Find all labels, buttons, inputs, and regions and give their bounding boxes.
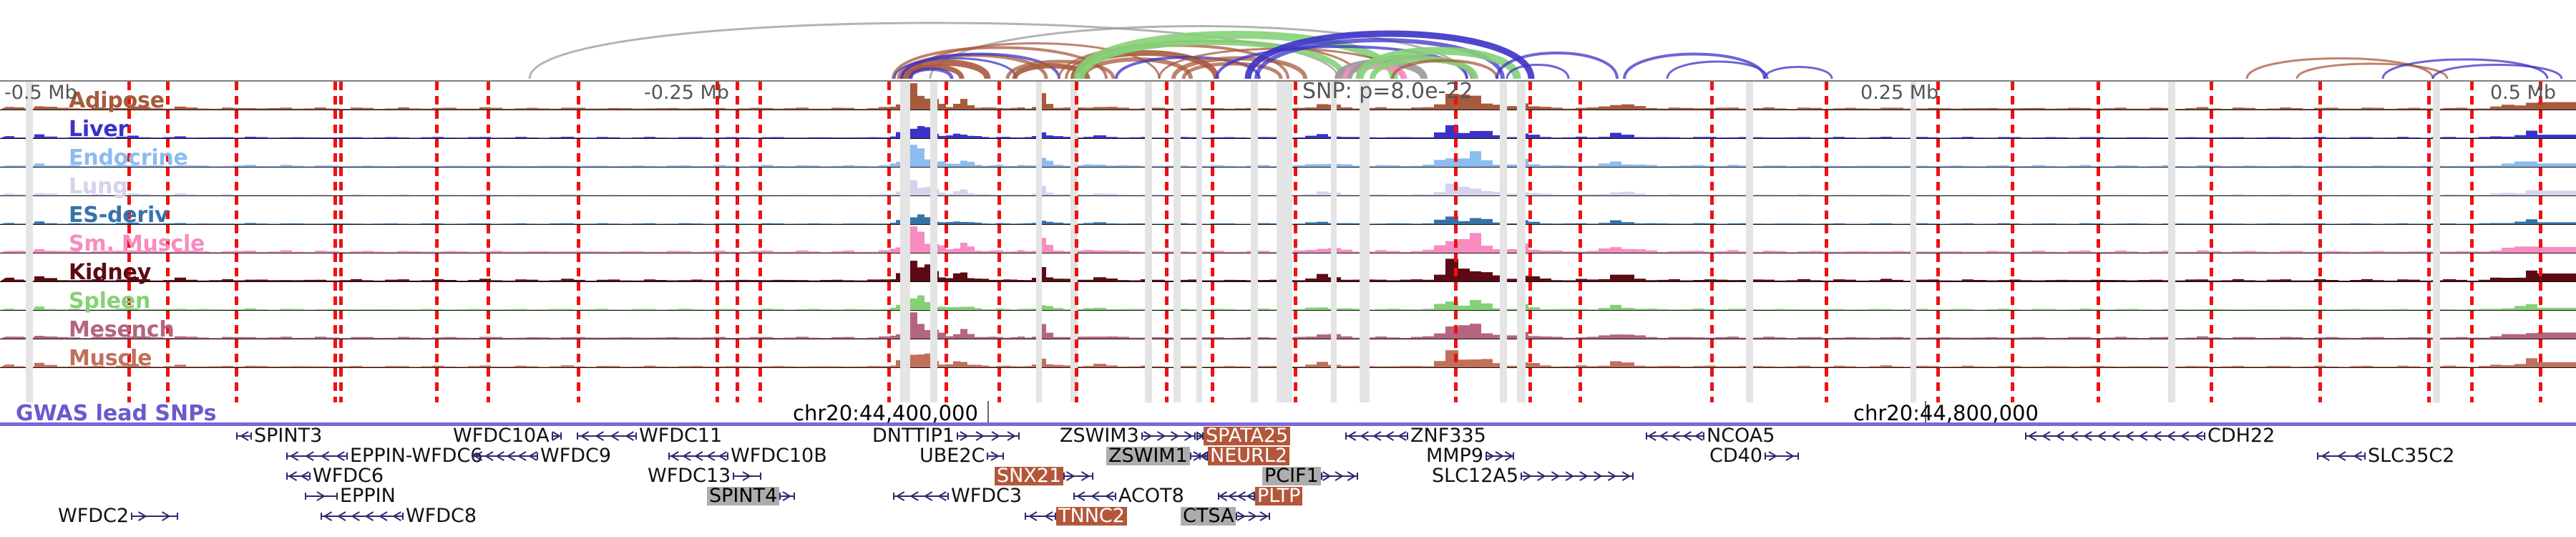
gene-label: ZNF335: [1408, 427, 1488, 445]
signal-track-stack: AdiposeLiverEndocrineLungES-derivSm. Mus…: [0, 80, 2576, 402]
gene-label: SNX21: [995, 467, 1063, 485]
signal-track-es-deriv[interactable]: ES-deriv: [0, 196, 2576, 225]
signal-area: [0, 145, 2576, 167]
gene-strand-track: [1646, 429, 1704, 443]
gene-strand-track: [2317, 449, 2366, 463]
signal-histogram: [0, 81, 2576, 110]
signal-histogram: [0, 138, 2576, 167]
track-label-endocrine: Endocrine: [69, 147, 188, 169]
gene-annotation[interactable]: ZSWIM3: [1058, 426, 1196, 445]
gene-strand-track: [1765, 449, 1799, 463]
gene-annotation-panel: WFDC2SPINT3EPPIN-WFDC6WFDC6EPPINWFDC8WFD…: [0, 426, 2576, 537]
loop-arc: [2297, 64, 2447, 79]
genome-browser-view: AdiposeLiverEndocrineLungES-derivSm. Mus…: [0, 0, 2576, 537]
gene-annotation[interactable]: PLTP: [1218, 486, 1302, 505]
gene-label: WFDC2: [56, 507, 131, 526]
gene-strand-track: [733, 469, 761, 483]
gene-annotation[interactable]: WFDC10A: [451, 426, 562, 445]
gene-label: EPPIN-WFDC6: [348, 447, 484, 465]
loop-arc: [2247, 59, 2433, 79]
gene-strand-track: [1141, 429, 1196, 443]
gene-label: TNNC2: [1056, 507, 1127, 526]
gene-strand-track: [1485, 449, 1514, 463]
gene-annotation[interactable]: NEURL2: [1199, 446, 1289, 465]
gene-strand-track: [1196, 429, 1204, 443]
gene-strand-track: [2025, 429, 2205, 443]
loop-arc: [1765, 67, 1832, 79]
gene-label: SPINT4: [707, 487, 779, 505]
gene-strand-track: [893, 489, 949, 503]
loop-arc: [2383, 59, 2547, 79]
gene-strand-track: [1345, 429, 1408, 443]
gene-strand-track: [321, 509, 404, 523]
gene-strand-track: [1025, 509, 1056, 523]
signal-histogram: [0, 167, 2576, 195]
gene-annotation[interactable]: CDH22: [2025, 426, 2277, 445]
gene-annotation[interactable]: SNX21: [995, 466, 1093, 485]
gene-annotation[interactable]: WFDC13: [645, 466, 761, 485]
signal-histogram: [0, 281, 2576, 310]
gene-annotation[interactable]: SPINT4: [707, 486, 795, 505]
gene-strand-track: [1073, 489, 1116, 503]
gene-label: SPINT3: [252, 427, 324, 445]
gene-strand-track: [286, 469, 311, 483]
gene-annotation[interactable]: ZNF335: [1345, 426, 1488, 445]
gene-strand-track: [286, 449, 348, 463]
signal-track-sm-muscle[interactable]: Sm. Muscle: [0, 225, 2576, 253]
gene-label: WFDC6: [311, 467, 386, 485]
gene-label: PCIF1: [1262, 467, 1321, 485]
gene-annotation[interactable]: WFDC8: [321, 506, 479, 525]
gene-label: ZSWIM3: [1058, 427, 1141, 445]
gene-strand-track: [305, 489, 338, 503]
gene-label: WFDC8: [404, 507, 479, 526]
coordinate-label-right: chr20:44,800,000: [1853, 401, 2039, 425]
signal-track-lung[interactable]: Lung: [0, 168, 2576, 196]
gene-label: EPPIN: [338, 487, 398, 505]
gene-annotation[interactable]: EPPIN-WFDC6: [286, 446, 484, 465]
signal-area: [0, 83, 2576, 110]
gene-label: DNTTIP1: [870, 427, 957, 445]
gene-annotation[interactable]: ACOT8: [1073, 486, 1186, 505]
signal-area: [0, 258, 2576, 281]
gene-annotation[interactable]: NCOA5: [1646, 426, 1777, 445]
track-label-mesench: Mesench: [69, 319, 175, 341]
chromatin-loop-arc-panel: [0, 0, 2576, 80]
gene-label: UBE2C: [917, 447, 987, 465]
gene-label: ACOT8: [1116, 487, 1186, 505]
signal-track-muscle[interactable]: Muscle: [0, 339, 2576, 368]
gene-annotation[interactable]: CTSA: [1181, 506, 1270, 525]
snp-pvalue-annotation: SNP: p=8.0e-22: [1302, 79, 1473, 104]
signal-track-spleen[interactable]: Spleen: [0, 282, 2576, 311]
gene-label: CD40: [1707, 447, 1765, 465]
coordinate-label-left: chr20:44,400,000: [793, 401, 978, 425]
signal-track-adipose[interactable]: Adipose: [0, 82, 2576, 110]
gene-label: WFDC11: [637, 427, 724, 445]
signal-histogram: [0, 224, 2576, 253]
gene-strand-track: [552, 429, 562, 443]
gene-annotation[interactable]: ZSWIM1: [1106, 446, 1206, 465]
gene-strand-track: [577, 429, 637, 443]
signal-area: [0, 180, 2576, 195]
gene-strand-track: [987, 449, 1004, 463]
gene-label: SLC12A5: [1430, 467, 1521, 485]
gene-label: PLTP: [1255, 487, 1302, 505]
gwas-lead-snp-label: GWAS lead SNPs: [16, 401, 216, 426]
gene-strand-track: [1218, 489, 1255, 503]
gene-annotation[interactable]: SLC12A5: [1430, 466, 1634, 485]
gene-annotation[interactable]: DNTTIP1: [870, 426, 1020, 445]
gene-annotation[interactable]: CD40: [1707, 446, 1799, 465]
gene-annotation[interactable]: SLC35C2: [2317, 446, 2457, 465]
signal-histogram: [0, 339, 2576, 367]
gene-annotation[interactable]: SPINT3: [236, 426, 324, 445]
signal-area: [0, 125, 2576, 138]
gene-annotation[interactable]: TNNC2: [1025, 506, 1127, 525]
gene-annotation[interactable]: MMP9: [1424, 446, 1514, 465]
signal-area: [0, 214, 2576, 224]
gene-annotation[interactable]: SPATA25: [1196, 426, 1290, 445]
gene-label: WFDC3: [949, 487, 1024, 505]
axis-label-quarter-right: 0.25 Mb: [1860, 82, 1938, 104]
signal-histogram: [0, 110, 2576, 138]
signal-track-kidney[interactable]: Kidney: [0, 253, 2576, 282]
gene-label: NCOA5: [1704, 427, 1777, 445]
gene-strand-track: [1063, 469, 1093, 483]
signal-track-liver[interactable]: Liver: [0, 110, 2576, 139]
gene-label: WFDC13: [645, 467, 733, 485]
gene-label: ZSWIM1: [1106, 447, 1190, 465]
loop-arc: [1624, 54, 1765, 79]
gene-label: CTSA: [1181, 507, 1236, 526]
gene-label: WFDC10B: [728, 447, 829, 465]
gene-strand-track: [472, 449, 538, 463]
gene-label: WFDC10A: [451, 427, 552, 445]
gene-label: SPATA25: [1204, 427, 1290, 445]
gene-annotation[interactable]: WFDC9: [472, 446, 613, 465]
signal-histogram: [0, 195, 2576, 224]
axis-label-quarter-left: -0.25 Mb: [644, 82, 729, 104]
gene-annotation[interactable]: WFDC6: [286, 466, 386, 485]
track-label-kidney: Kidney: [69, 262, 151, 284]
track-label-es-deriv: ES-deriv: [69, 205, 168, 226]
coord-tick-left: [987, 401, 989, 422]
gene-annotation[interactable]: EPPIN: [305, 486, 398, 505]
gene-label: SLC35C2: [2366, 447, 2457, 465]
gene-label: NEURL2: [1208, 447, 1289, 465]
loop-arc: [1184, 64, 1281, 79]
gene-annotation[interactable]: WFDC10B: [668, 446, 829, 465]
gene-strand-track: [1199, 449, 1208, 463]
track-label-adipose: Adipose: [69, 90, 165, 112]
gene-strand-track: [131, 509, 178, 523]
gene-annotation[interactable]: WFDC2: [56, 506, 178, 525]
gene-strand-track: [1321, 469, 1358, 483]
signal-area: [0, 295, 2576, 310]
signal-histogram: [0, 310, 2576, 339]
gene-strand-track: [779, 489, 795, 503]
arc-svg: [0, 0, 2576, 80]
signal-track-endocrine[interactable]: Endocrine: [0, 139, 2576, 168]
axis-label-left: -0.5 Mb: [4, 82, 77, 104]
gene-strand-track: [236, 429, 252, 443]
gene-label: CDH22: [2205, 427, 2277, 445]
axis-label-right: 0.5 Mb: [2490, 82, 2556, 104]
track-label-liver: Liver: [69, 119, 128, 140]
signal-area: [0, 312, 2576, 339]
signal-area: [0, 350, 2576, 367]
signal-track-mesench[interactable]: Mesench: [0, 311, 2576, 339]
gene-annotation[interactable]: PCIF1: [1262, 466, 1358, 485]
gene-label: MMP9: [1424, 447, 1485, 465]
signal-area: [0, 226, 2576, 253]
gene-annotation[interactable]: WFDC11: [577, 426, 724, 445]
track-label-muscle: Muscle: [69, 348, 152, 369]
gene-annotation[interactable]: UBE2C: [917, 446, 1004, 465]
signal-histogram: [0, 253, 2576, 281]
gene-strand-track: [957, 429, 1020, 443]
gene-annotation[interactable]: WFDC3: [893, 486, 1024, 505]
track-label-sm-muscle: Sm. Muscle: [69, 233, 205, 255]
track-label-spleen: Spleen: [69, 291, 150, 312]
gene-label: WFDC9: [538, 447, 613, 465]
gene-strand-track: [1236, 509, 1270, 523]
gene-strand-track: [1521, 469, 1634, 483]
track-label-lung: Lung: [69, 176, 128, 198]
gene-strand-track: [668, 449, 728, 463]
